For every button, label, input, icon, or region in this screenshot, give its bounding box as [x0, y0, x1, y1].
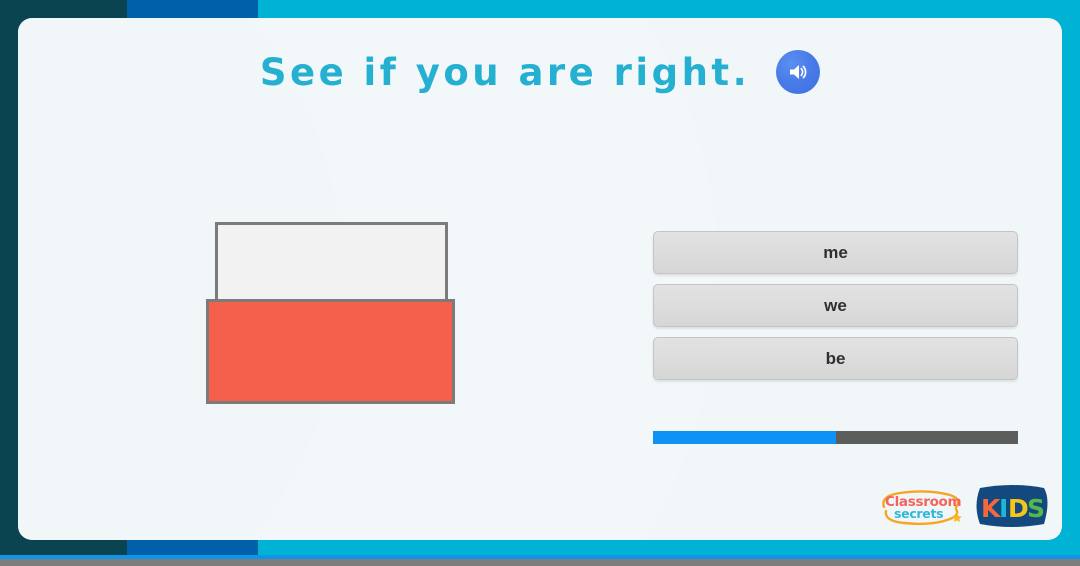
word-cover-panel[interactable]	[206, 299, 455, 404]
app-frame: See if you are right. me me we	[0, 0, 1080, 559]
bottom-accent-line	[0, 555, 1080, 559]
answer-options-list: me we be	[653, 231, 1018, 380]
speaker-icon	[786, 60, 810, 84]
word-card-area: me	[203, 218, 463, 413]
bottom-chrome-strip	[0, 559, 1080, 566]
answer-option-3[interactable]: be	[653, 337, 1018, 380]
answer-option-2[interactable]: we	[653, 284, 1018, 327]
content-panel: See if you are right. me me we	[18, 18, 1062, 540]
classroom-secrets-logo: Classroom secrets	[878, 487, 964, 527]
title-row: See if you are right.	[18, 50, 1062, 94]
page-title: See if you are right.	[260, 51, 750, 94]
progress-bar-fill	[653, 431, 836, 444]
svg-text:secrets: secrets	[894, 506, 943, 521]
play-audio-button[interactable]	[776, 50, 820, 94]
kids-logo: K I D S	[972, 484, 1052, 530]
progress-bar	[653, 431, 1018, 444]
svg-text:D: D	[1008, 494, 1029, 523]
svg-text:S: S	[1027, 494, 1045, 523]
svg-text:I: I	[999, 494, 1008, 523]
answer-option-1[interactable]: me	[653, 231, 1018, 274]
brand-logo-group: Classroom secrets K I D S	[878, 484, 1052, 530]
